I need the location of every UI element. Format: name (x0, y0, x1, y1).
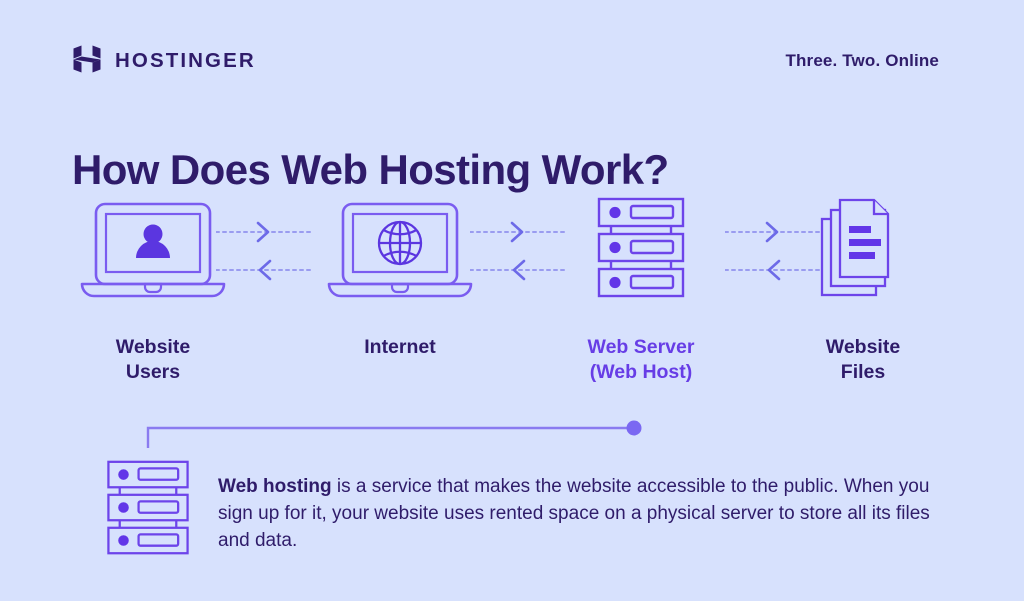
footnote-block: Web hosting is a service that makes the … (104, 455, 954, 574)
flow-diagram: Website Users (0, 196, 1024, 386)
flow-node-internet: Internet (305, 196, 495, 360)
flow-node-label: Website Files (768, 335, 958, 385)
brand-tagline: Three. Two. Online (785, 51, 939, 71)
header: HOSTINGER Three. Two. Online (0, 38, 1024, 84)
page-title: How Does Web Hosting Work? (72, 146, 669, 193)
flow-node-web-server: Web Server (Web Host) (546, 196, 736, 385)
flow-node-label: Internet (305, 335, 495, 360)
hostinger-wordmark: HOSTINGER (115, 51, 256, 72)
hostinger-h-logo-icon (72, 44, 102, 79)
divider-rule-with-end-dot (146, 416, 646, 452)
hostinger-logo: HOSTINGER (72, 38, 256, 84)
infographic-canvas: HOSTINGER Three. Two. Online How Does We… (0, 0, 1024, 601)
footnote-lead: Web hosting (218, 476, 332, 497)
laptop-globe-icon (305, 196, 495, 300)
footnote-text: Web hosting is a service that makes the … (218, 474, 938, 555)
flow-node-label: Web Server (Web Host) (546, 335, 736, 385)
stacked-documents-icon (768, 196, 958, 300)
server-rack-icon (104, 459, 192, 562)
flow-connector-users-internet (216, 218, 312, 282)
flow-node-label: Website Users (58, 335, 248, 385)
server-rack-icon (546, 196, 736, 300)
flow-node-website-files: Website Files (768, 196, 958, 385)
